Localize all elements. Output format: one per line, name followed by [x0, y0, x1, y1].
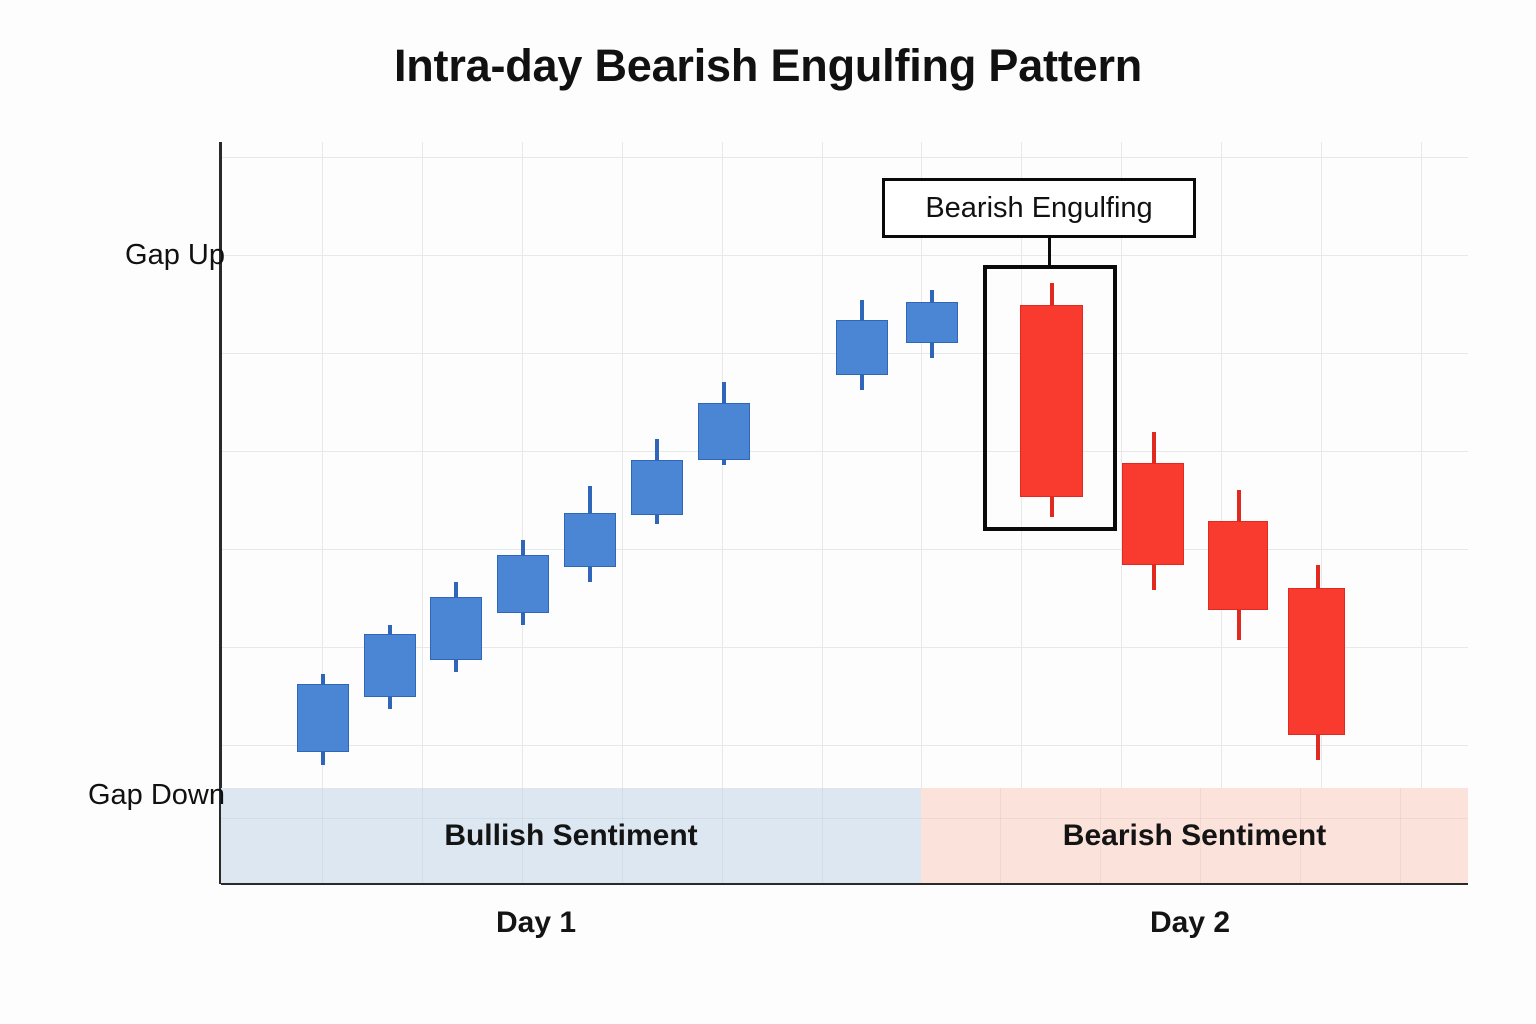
gridline-vertical [622, 142, 623, 797]
gridline-horizontal [221, 451, 1468, 452]
candle-body [631, 460, 683, 515]
gridline-horizontal [221, 549, 1468, 550]
annotation-callout: Bearish Engulfing [882, 178, 1196, 238]
gridline-vertical [1221, 142, 1222, 797]
gridline-vertical [422, 142, 423, 797]
gridline-vertical [522, 788, 523, 883]
candle-body [1122, 463, 1184, 565]
gridline-vertical [822, 142, 823, 797]
annotation-label: Bearish Engulfing [925, 192, 1152, 225]
gridline-vertical [1100, 788, 1101, 883]
candle-body [364, 634, 416, 697]
y-tick-label-gap-down: Gap Down [88, 779, 225, 812]
candle-body [906, 302, 958, 343]
gridline-horizontal [221, 255, 1468, 256]
plot-area [221, 142, 1468, 797]
x-tick-label-day-1: Day 1 [436, 906, 636, 940]
gridline-vertical [822, 788, 823, 883]
candle-body [1288, 588, 1345, 735]
bullish-sentiment-label: Bullish Sentiment [444, 819, 697, 853]
gridline-horizontal [221, 818, 921, 819]
candle-body [698, 403, 750, 460]
gridline-vertical [322, 788, 323, 883]
gridline-vertical [1421, 142, 1422, 797]
gridline-vertical [1300, 788, 1301, 883]
gridline-horizontal [221, 745, 1468, 746]
gridline-horizontal [221, 157, 1468, 158]
candlestick-chart-figure: Intra-day Bearish Engulfing Pattern [0, 0, 1536, 1024]
gridline-vertical [422, 788, 423, 883]
gridline-vertical [921, 142, 922, 797]
gridline-vertical [722, 142, 723, 797]
bearish-sentiment-label: Bearish Sentiment [1063, 819, 1326, 853]
gridline-vertical [1000, 788, 1001, 883]
bearish-sentiment-band: Bearish Sentiment [921, 788, 1468, 883]
gridline-vertical [1400, 788, 1401, 883]
bullish-sentiment-band: Bullish Sentiment [221, 788, 921, 883]
candle-body [836, 320, 888, 375]
candle-body [497, 555, 549, 613]
gridline-vertical [522, 142, 523, 797]
chart-title: Intra-day Bearish Engulfing Pattern [0, 40, 1536, 92]
y-tick-label-gap-up: Gap Up [125, 239, 225, 272]
candle-body [430, 597, 482, 660]
candle-body [297, 684, 349, 752]
gridline-vertical [1200, 788, 1201, 883]
candle-body [1208, 521, 1268, 610]
gridline-horizontal [921, 818, 1468, 819]
gridline-vertical [722, 788, 723, 883]
annotation-connector-line [1048, 238, 1051, 267]
bearish-engulfing-highlight-box [983, 265, 1117, 531]
gridline-vertical [622, 788, 623, 883]
x-tick-label-day-2: Day 2 [1090, 906, 1290, 940]
candle-body [564, 513, 616, 567]
